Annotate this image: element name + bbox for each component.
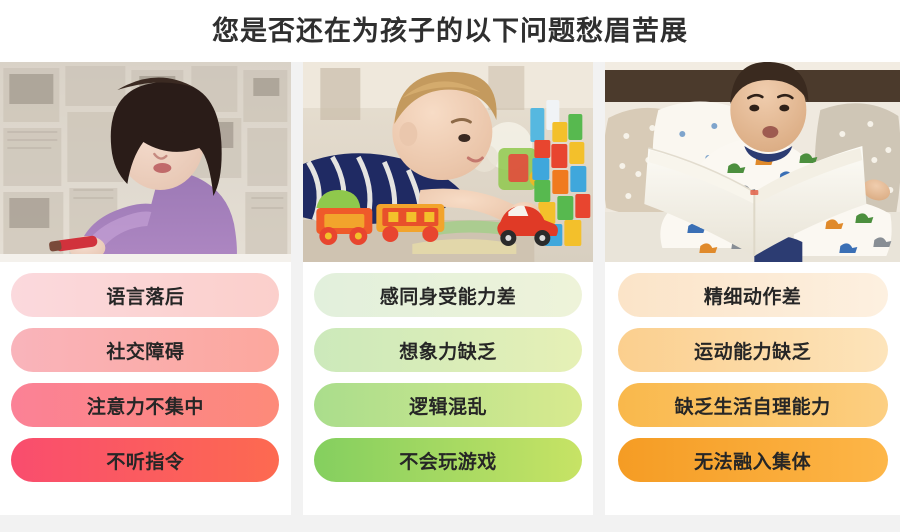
issue-pill-list: 精细动作差 运动能力缺乏 缺乏生活自理能力 无法融入集体 bbox=[605, 262, 900, 515]
photo-boy-in-dinosaur-pajamas-reading-book bbox=[605, 62, 900, 262]
issue-pill[interactable]: 缺乏生活自理能力 bbox=[618, 383, 888, 427]
page-header: 您是否还在为孩子的以下问题愁眉苦展 bbox=[0, 0, 900, 62]
issue-card-motor-selfcare: 精细动作差 运动能力缺乏 缺乏生活自理能力 无法融入集体 bbox=[605, 62, 900, 515]
photo-boy-playing-with-blocks-and-train bbox=[303, 62, 594, 262]
issue-pill[interactable]: 社交障碍 bbox=[11, 328, 279, 372]
issue-pill[interactable]: 精细动作差 bbox=[618, 273, 888, 317]
issue-pill[interactable]: 想象力缺乏 bbox=[314, 328, 582, 372]
issue-pill[interactable]: 语言落后 bbox=[11, 273, 279, 317]
issue-pill[interactable]: 不会玩游戏 bbox=[314, 438, 582, 482]
issue-pill[interactable]: 无法融入集体 bbox=[618, 438, 888, 482]
promo-page: 您是否还在为孩子的以下问题愁眉苦展 bbox=[0, 0, 900, 532]
issue-pill[interactable]: 感同身受能力差 bbox=[314, 273, 582, 317]
issue-pill[interactable]: 运动能力缺乏 bbox=[618, 328, 888, 372]
issue-pill-list: 语言落后 社交障碍 注意力不集中 不听指令 bbox=[0, 262, 291, 515]
issue-columns: 语言落后 社交障碍 注意力不集中 不听指令 bbox=[0, 62, 900, 532]
issue-card-imagination-logic: 感同身受能力差 想象力缺乏 逻辑混乱 不会玩游戏 bbox=[303, 62, 594, 515]
issue-pill[interactable]: 注意力不集中 bbox=[11, 383, 279, 427]
issue-card-language-social: 语言落后 社交障碍 注意力不集中 不听指令 bbox=[0, 62, 291, 515]
photo-girl-writing-with-red-marker bbox=[0, 62, 291, 262]
issue-pill[interactable]: 不听指令 bbox=[11, 438, 279, 482]
issue-pill[interactable]: 逻辑混乱 bbox=[314, 383, 582, 427]
page-title: 您是否还在为孩子的以下问题愁眉苦展 bbox=[212, 18, 688, 45]
issue-pill-list: 感同身受能力差 想象力缺乏 逻辑混乱 不会玩游戏 bbox=[303, 262, 594, 515]
